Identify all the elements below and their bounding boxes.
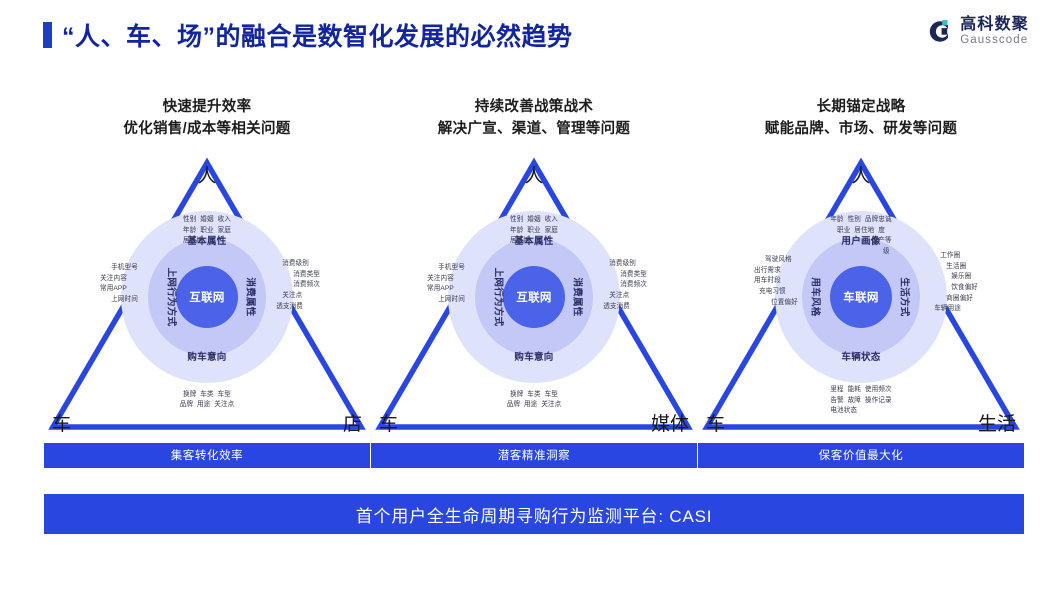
sat-right-item: 关注点	[603, 291, 647, 302]
core-label-2: 互联网	[516, 289, 551, 305]
sat-left-item: 驾驶风格	[754, 255, 798, 266]
column-2: 持续改善战策战术 解决广宣、渠道、管理等问题 人 车 媒体 互联网 基本属性 购…	[371, 96, 697, 468]
satellite-bottom-3: 里程 能耗 使用频次 告警 故障 操作记录 电池状态	[830, 385, 891, 417]
vertex-top-2: 人	[524, 167, 543, 186]
sat-left-item: 手机型号	[427, 263, 471, 274]
satellite-bottom-1: 换牌 车类 车型 品牌 用途 关注点	[180, 390, 235, 411]
ring-label-bottom-2: 购车意向	[514, 349, 553, 363]
sat-right-item: 商圈偏好	[934, 294, 978, 305]
vertex-top-1: 人	[197, 167, 216, 186]
sat-right-item: 消费级别	[276, 259, 320, 270]
sat-top-row: 职业 居住地 度	[830, 226, 891, 237]
logo-text: 高科数聚 Gausscode	[960, 17, 1029, 46]
sat-right-item: 消费频次	[276, 280, 320, 291]
page-title: “人、车、场”的融合是数智化发展的必然趋势	[62, 17, 573, 53]
ring-label-left-1: 上网行为方式	[165, 268, 179, 327]
sat-top-row: 资产等	[830, 236, 891, 247]
sat-right-item: 关注点	[276, 291, 320, 302]
sat-bottom-row: 里程 能耗 使用频次	[830, 385, 891, 396]
ring-label-left-3: 用车风格	[810, 277, 824, 316]
slide-canvas: “人、车、场”的融合是数智化发展的必然趋势 高科数聚 Gausscode 快速提…	[0, 0, 1057, 589]
column-2-triangle-zone: 人 车 媒体 互联网 基本属性 购车意向 上网行为方式 消费属性 性别 婚姻 收…	[371, 151, 697, 439]
sat-left-item: 上网时间	[427, 295, 471, 306]
satellite-left-1: 手机型号 关注内容 常用APP 上网时间	[100, 263, 144, 306]
column-3: 长期锚定战略 赋能品牌、市场、研发等问题 人 车 生活 车联网 用户画像 车辆状…	[698, 96, 1024, 468]
sat-left-item: 充电习惯	[754, 287, 798, 298]
sat-top-row: 性别 婚姻 收入	[183, 215, 231, 226]
satellite-bottom-2: 换牌 车类 车型 品牌 用途 关注点	[507, 390, 562, 411]
sat-left-item: 手机型号	[100, 263, 144, 274]
sat-bottom-row: 品牌 用途 关注点	[507, 400, 562, 411]
column-1-triangle-zone: 人 车 店 互联网 基本属性 购车意向 上网行为方式 消费属性 性别 婚姻 收入…	[44, 151, 370, 439]
sat-left-item: 关注内容	[100, 274, 144, 285]
satellite-top-3: 年龄 性别 品牌忠诚 职业 居住地 度 资产等 级	[830, 215, 891, 258]
sat-top-row: 居住地	[510, 236, 558, 247]
sat-bottom-row: 告警 故障 操作记录	[830, 396, 891, 407]
sat-top-row: 性别 婚姻 收入	[510, 215, 558, 226]
core-label-1: 互联网	[189, 289, 224, 305]
ring-label-bottom-3: 车辆状态	[841, 349, 880, 363]
slide-header: “人、车、场”的融合是数智化发展的必然趋势 高科数聚 Gausscode	[0, 0, 1057, 66]
ring-label-bottom-1: 购车意向	[187, 349, 226, 363]
column-3-banner: 保客价值最大化	[698, 443, 1024, 468]
sat-right-item: 消费级别	[603, 259, 647, 270]
gausscode-logo-icon	[926, 18, 953, 45]
sat-right-item: 饮食偏好	[934, 283, 978, 294]
vertex-left-3: 车	[706, 415, 725, 434]
sat-right-item: 透支消费	[276, 302, 320, 313]
sat-top-row: 年龄 性别 品牌忠诚	[830, 215, 891, 226]
column-1-heading-line2: 优化销售/成本等相关问题	[44, 118, 370, 140]
satellite-right-3: 工作圈 生活圈 娱乐圈 饮食偏好 商圈偏好 车辆用途	[934, 251, 978, 315]
sat-top-row: 级	[830, 247, 889, 258]
column-1-heading-line1: 快速提升效率	[44, 96, 370, 118]
sat-right-item: 透支消费	[603, 302, 647, 313]
column-2-heading: 持续改善战策战术 解决广宣、渠道、管理等问题	[371, 96, 697, 141]
sat-bottom-row: 电池状态	[830, 406, 891, 417]
sat-left-item: 出行需求	[754, 266, 798, 277]
vertex-right-3: 生活	[978, 415, 1016, 434]
vertex-left-2: 车	[379, 415, 398, 434]
core-label-3: 车联网	[843, 289, 878, 305]
vertex-right-1: 店	[343, 415, 362, 434]
sat-left-item: 常用APP	[427, 284, 471, 295]
sat-bottom-row: 换牌 车类 车型	[180, 390, 235, 401]
sat-right-item: 消费类型	[276, 270, 320, 281]
platform-banner: 首个用户全生命周期寻购行为监测平台: CASI	[44, 494, 1024, 534]
sat-right-item: 车辆用途	[934, 304, 978, 315]
sat-bottom-row: 换牌 车类 车型	[507, 390, 562, 401]
sat-bottom-row: 品牌 用途 关注点	[180, 400, 235, 411]
sat-left-item: 常用APP	[100, 284, 144, 295]
vertex-right-2: 媒体	[651, 415, 689, 434]
ring-label-right-3: 生活方式	[898, 277, 912, 316]
column-3-heading-line1: 长期锚定战略	[698, 96, 1024, 118]
satellite-right-1: 消费级别 消费类型 消费频次 关注点 透支消费	[276, 259, 320, 312]
sat-right-item: 消费类型	[603, 270, 647, 281]
ring-label-right-1: 消费属性	[244, 277, 258, 316]
vertex-top-3: 人	[851, 167, 870, 186]
sat-right-item: 消费频次	[603, 280, 647, 291]
logo-name-cn: 高科数聚	[960, 17, 1029, 34]
satellite-top-2: 性别 婚姻 收入 年龄 职业 家庭 居住地	[510, 215, 558, 247]
satellite-right-2: 消费级别 消费类型 消费频次 关注点 透支消费	[603, 259, 647, 312]
sat-left-item: 关注内容	[427, 274, 471, 285]
satellite-left-2: 手机型号 关注内容 常用APP 上网时间	[427, 263, 471, 306]
satellite-top-1: 性别 婚姻 收入 年龄 职业 家庭 居住地	[183, 215, 231, 247]
column-2-heading-line1: 持续改善战策战术	[371, 96, 697, 118]
sat-right-item: 生活圈	[934, 262, 978, 273]
column-3-heading-line2: 赋能品牌、市场、研发等问题	[698, 118, 1024, 140]
sat-left-item: 位置偏好	[754, 298, 798, 309]
ring-label-right-2: 消费属性	[571, 277, 585, 316]
logo-name-en: Gausscode	[960, 34, 1029, 46]
title-accent-bar	[43, 22, 52, 48]
sat-right-item: 娱乐圈	[934, 272, 978, 283]
column-3-triangle-zone: 人 车 生活 车联网 用户画像 车辆状态 用车风格 生活方式 年龄 性别 品牌忠…	[698, 151, 1024, 439]
sat-top-row: 年龄 职业 家庭	[510, 226, 558, 237]
column-1-banner: 集客转化效率	[44, 443, 370, 468]
column-2-banner: 潜客精准洞察	[371, 443, 697, 468]
vertex-left-1: 车	[52, 415, 71, 434]
column-3-heading: 长期锚定战略 赋能品牌、市场、研发等问题	[698, 96, 1024, 141]
column-1: 快速提升效率 优化销售/成本等相关问题 人 车 店 互联网 基本属性 购车意向 …	[44, 96, 370, 468]
satellite-left-3: 驾驶风格 出行需求 用车时段 充电习惯 位置偏好	[754, 255, 798, 308]
ring-label-left-2: 上网行为方式	[492, 268, 506, 327]
sat-left-item: 用车时段	[754, 276, 798, 287]
brand-logo: 高科数聚 Gausscode	[926, 17, 1029, 46]
column-1-heading: 快速提升效率 优化销售/成本等相关问题	[44, 96, 370, 141]
sat-left-item: 上网时间	[100, 295, 144, 306]
sat-top-row: 居住地	[183, 236, 231, 247]
sat-top-row: 年龄 职业 家庭	[183, 226, 231, 237]
sat-right-item: 工作圈	[934, 251, 978, 262]
column-2-heading-line2: 解决广宣、渠道、管理等问题	[371, 118, 697, 140]
